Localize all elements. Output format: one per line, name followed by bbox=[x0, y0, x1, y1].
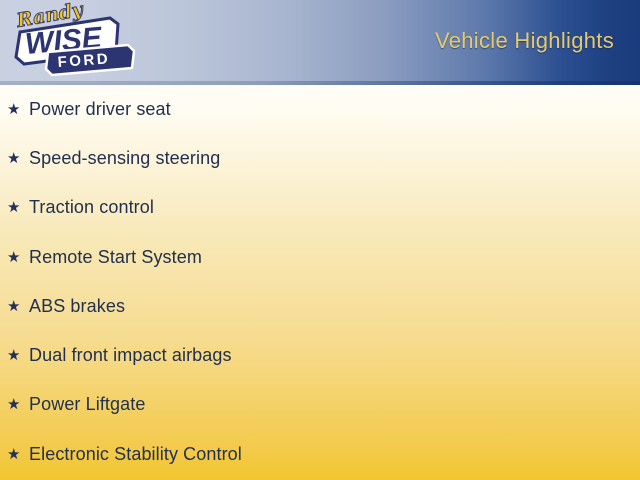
list-item[interactable]: ★ Electronic Stability Control bbox=[0, 441, 242, 467]
vehicle-highlights-slide: WISE FORD Randy Vehicle Highlights ★ Pow… bbox=[0, 0, 640, 480]
list-item[interactable]: ★ Power Liftgate bbox=[0, 391, 145, 417]
star-bullet-icon: ★ bbox=[7, 397, 29, 412]
page-title: Vehicle Highlights bbox=[435, 28, 614, 54]
list-item[interactable]: ★ ABS brakes bbox=[0, 293, 125, 319]
highlight-label: Electronic Stability Control bbox=[29, 444, 242, 465]
star-bullet-icon: ★ bbox=[7, 348, 29, 363]
header-bar: WISE FORD Randy Vehicle Highlights bbox=[0, 0, 640, 85]
highlight-label: Remote Start System bbox=[29, 247, 202, 268]
star-bullet-icon: ★ bbox=[7, 200, 29, 215]
highlight-label: Speed-sensing steering bbox=[29, 148, 220, 169]
star-bullet-icon: ★ bbox=[7, 250, 29, 265]
list-item[interactable]: ★ Traction control bbox=[0, 194, 154, 220]
highlight-label: Power driver seat bbox=[29, 99, 171, 120]
randy-wise-ford-logo[interactable]: WISE FORD Randy bbox=[6, 2, 138, 80]
list-item[interactable]: ★ Remote Start System bbox=[0, 244, 202, 270]
highlight-label: Dual front impact airbags bbox=[29, 345, 232, 366]
star-bullet-icon: ★ bbox=[7, 151, 29, 166]
list-item[interactable]: ★ Power driver seat bbox=[0, 96, 171, 122]
highlights-panel: ★ Power driver seat ★ Speed-sensing stee… bbox=[0, 85, 640, 480]
star-bullet-icon: ★ bbox=[7, 102, 29, 117]
star-bullet-icon: ★ bbox=[7, 447, 29, 462]
highlight-label: Power Liftgate bbox=[29, 394, 145, 415]
highlight-label: Traction control bbox=[29, 197, 154, 218]
list-item[interactable]: ★ Speed-sensing steering bbox=[0, 145, 220, 171]
star-bullet-icon: ★ bbox=[7, 299, 29, 314]
logo-artwork: WISE FORD Randy bbox=[6, 2, 138, 80]
highlight-label: ABS brakes bbox=[29, 296, 125, 317]
list-item[interactable]: ★ Dual front impact airbags bbox=[0, 342, 232, 368]
